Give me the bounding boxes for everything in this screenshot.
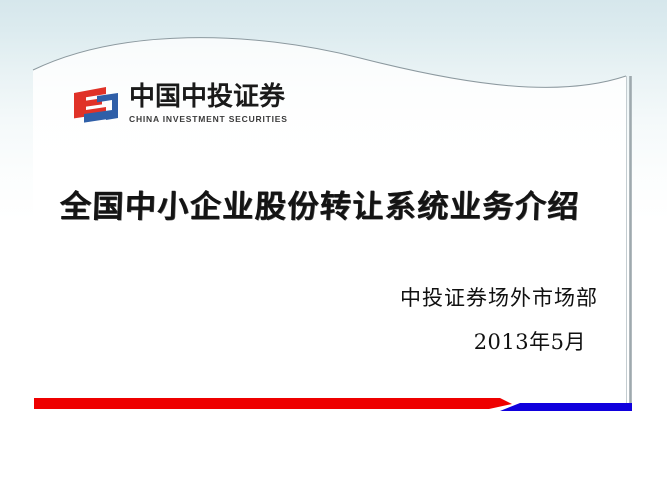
slide-main-title: 全国中小企业股份转让系统业务介绍 — [59, 188, 620, 226]
slide-subtitle-date: 2013年5月 — [0, 328, 586, 356]
slide-subtitle-department: 中投证券场外市场部 — [0, 284, 598, 312]
logo-wordmark: 中国中投证券 CHINA INVESTMENT SECURITIES — [129, 82, 288, 125]
logo-english-name: CHINA INVESTMENT SECURITIES — [129, 114, 288, 125]
title-slide: 中国中投证券 CHINA INVESTMENT SECURITIES 全国中小企… — [0, 0, 667, 500]
brand-logo: 中国中投证券 CHINA INVESTMENT SECURITIES — [72, 82, 288, 126]
slide-background — [0, 0, 667, 500]
company-logo-icon — [72, 84, 120, 126]
logo-chinese-name: 中国中投证券 — [129, 82, 288, 112]
